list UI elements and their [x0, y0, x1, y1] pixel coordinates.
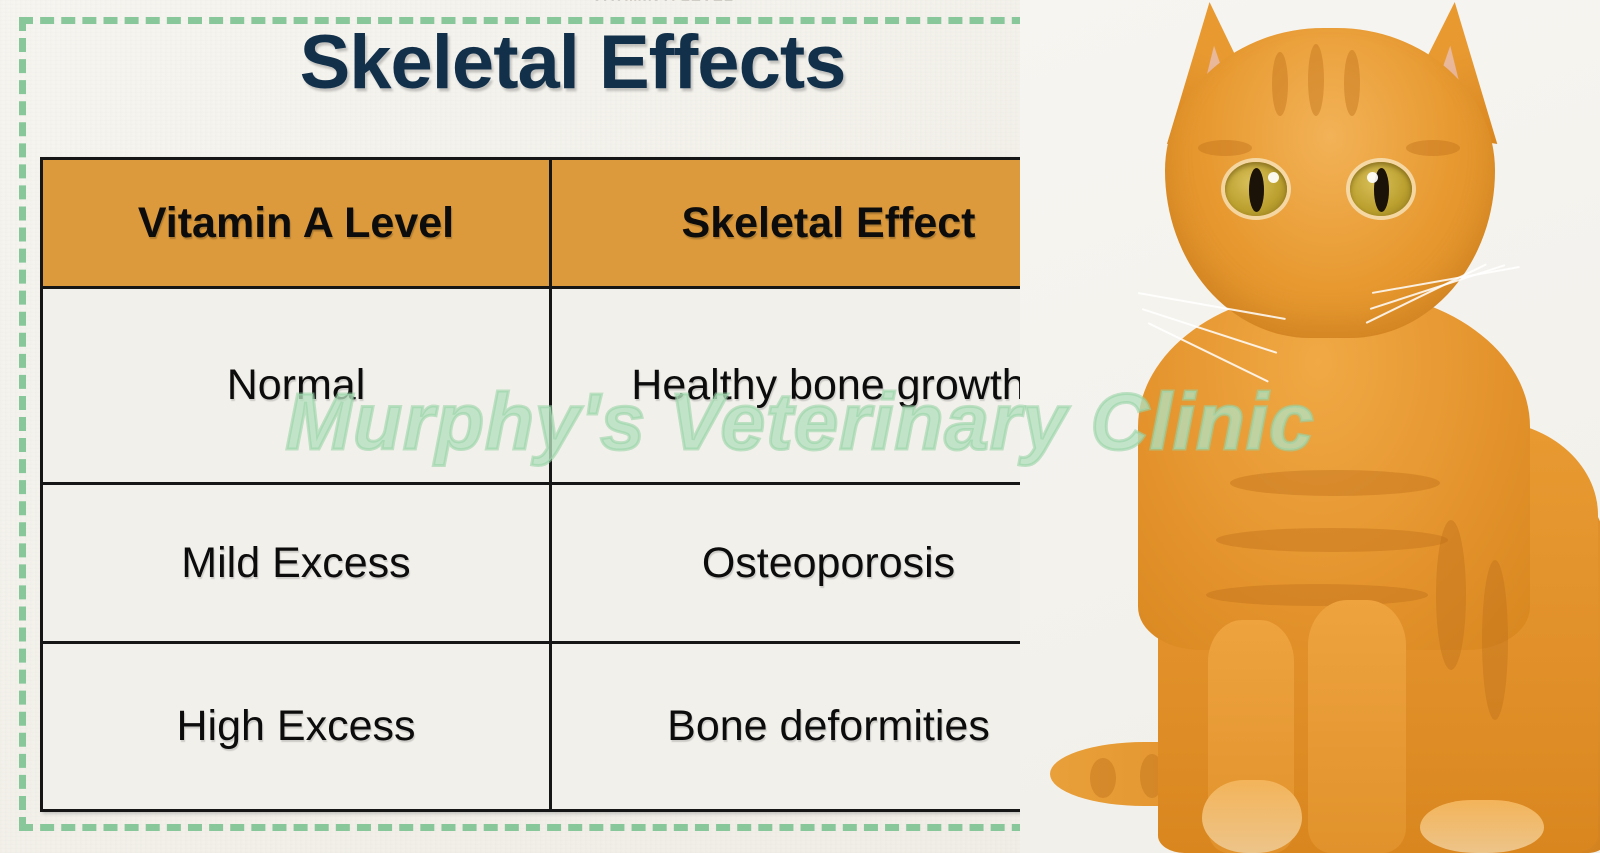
- cell-level-normal: Normal: [42, 288, 551, 484]
- cell-level-high-excess: High Excess: [42, 643, 551, 811]
- cell-level-mild-excess: Mild Excess: [42, 484, 551, 643]
- table-head: Vitamin A Level Skeletal Effect: [42, 159, 1107, 288]
- cat-front-leg-right: [1308, 600, 1406, 853]
- cat-paw-right: [1420, 800, 1544, 853]
- skeletal-effects-table: Vitamin A Level Skeletal Effect Normal H…: [40, 157, 1108, 812]
- body-stripe: [1216, 528, 1448, 552]
- cat-ear-left-inner: [1183, 40, 1245, 136]
- cat-paw-left: [1202, 780, 1302, 853]
- cat-ear-right-inner: [1418, 40, 1480, 136]
- cat-head: [1165, 28, 1495, 338]
- body-stripe: [1230, 470, 1440, 496]
- cat-eye-right: [1350, 162, 1412, 216]
- table-row: Mild Excess Osteoporosis: [42, 484, 1107, 643]
- cheek-stripe: [1198, 140, 1252, 156]
- cell-effect-normal: Healthy bone growth: [551, 288, 1107, 484]
- cat-haunch: [1372, 470, 1600, 853]
- cell-effect-high-excess: Bone deformities: [551, 643, 1107, 811]
- forehead-stripe: [1344, 50, 1360, 116]
- cat-whisker: [1142, 308, 1278, 354]
- cat-pupil-right: [1374, 168, 1389, 212]
- cell-effect-mild-excess: Osteoporosis: [551, 484, 1107, 643]
- cat-front-leg-left: [1208, 620, 1294, 853]
- haunch-stripe: [1436, 520, 1466, 670]
- cat-whisker: [1138, 292, 1286, 320]
- haunch-stripe: [1482, 560, 1508, 720]
- forehead-stripe: [1272, 52, 1288, 116]
- table-row: High Excess Bone deformities: [42, 643, 1107, 811]
- poster-canvas: VITAMIN A LEVEL Skeletal Effects Vitamin…: [0, 0, 1600, 853]
- table-body: Normal Healthy bone growth Mild Excess O…: [42, 288, 1107, 811]
- cat-pupil-left: [1249, 168, 1264, 212]
- tail-stripe: [1188, 752, 1210, 798]
- cat-eye-left: [1225, 162, 1287, 216]
- cat-whisker: [1370, 264, 1506, 310]
- cat-whisker: [1148, 322, 1269, 383]
- cat-chest: [1138, 290, 1530, 650]
- cheek-stripe: [1406, 140, 1460, 156]
- forehead-stripe: [1308, 44, 1324, 116]
- page-title: Skeletal Effects: [40, 19, 1105, 106]
- column-header-vitamin-a-level: Vitamin A Level: [42, 159, 551, 288]
- cat-whisker: [1372, 266, 1520, 294]
- cat-ear-right: [1392, 2, 1504, 144]
- cat-eye-glint-left: [1268, 172, 1279, 183]
- cat-whisker: [1366, 263, 1487, 324]
- column-header-skeletal-effect: Skeletal Effect: [551, 159, 1107, 288]
- cat-body: [1158, 420, 1598, 853]
- tail-stripe: [1140, 754, 1164, 798]
- cat-ear-left: [1158, 2, 1270, 144]
- cat-eye-glint-right: [1367, 172, 1378, 183]
- table-header-row: Vitamin A Level Skeletal Effect: [42, 159, 1107, 288]
- table-row: Normal Healthy bone growth: [42, 288, 1107, 484]
- top-cropped-text: VITAMIN A LEVEL: [592, 0, 910, 4]
- body-stripe: [1206, 584, 1428, 606]
